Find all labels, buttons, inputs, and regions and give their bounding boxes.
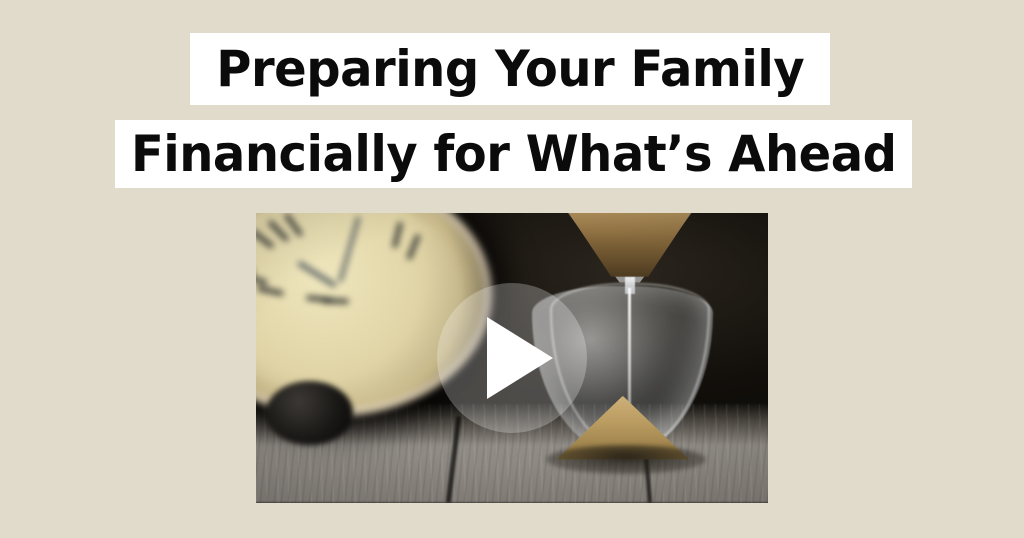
- title-banner-line-2: Financially for What’s Ahead: [115, 120, 912, 188]
- hourglass-sand-stream: [628, 288, 631, 410]
- hourglass-top-sand: [553, 213, 706, 277]
- play-icon: [487, 317, 553, 399]
- hourglass-base-shadow: [546, 445, 706, 474]
- clock-foot: [266, 381, 353, 445]
- slide-canvas: Preparing Your Family Financially for Wh…: [0, 0, 1024, 538]
- title-banner-line-1: Preparing Your Family: [190, 33, 830, 105]
- title-text-line-1: Preparing Your Family: [216, 44, 804, 94]
- play-button[interactable]: [437, 283, 587, 433]
- title-text-line-2: Financially for What’s Ahead: [131, 129, 897, 179]
- video-thumbnail[interactable]: [256, 213, 768, 503]
